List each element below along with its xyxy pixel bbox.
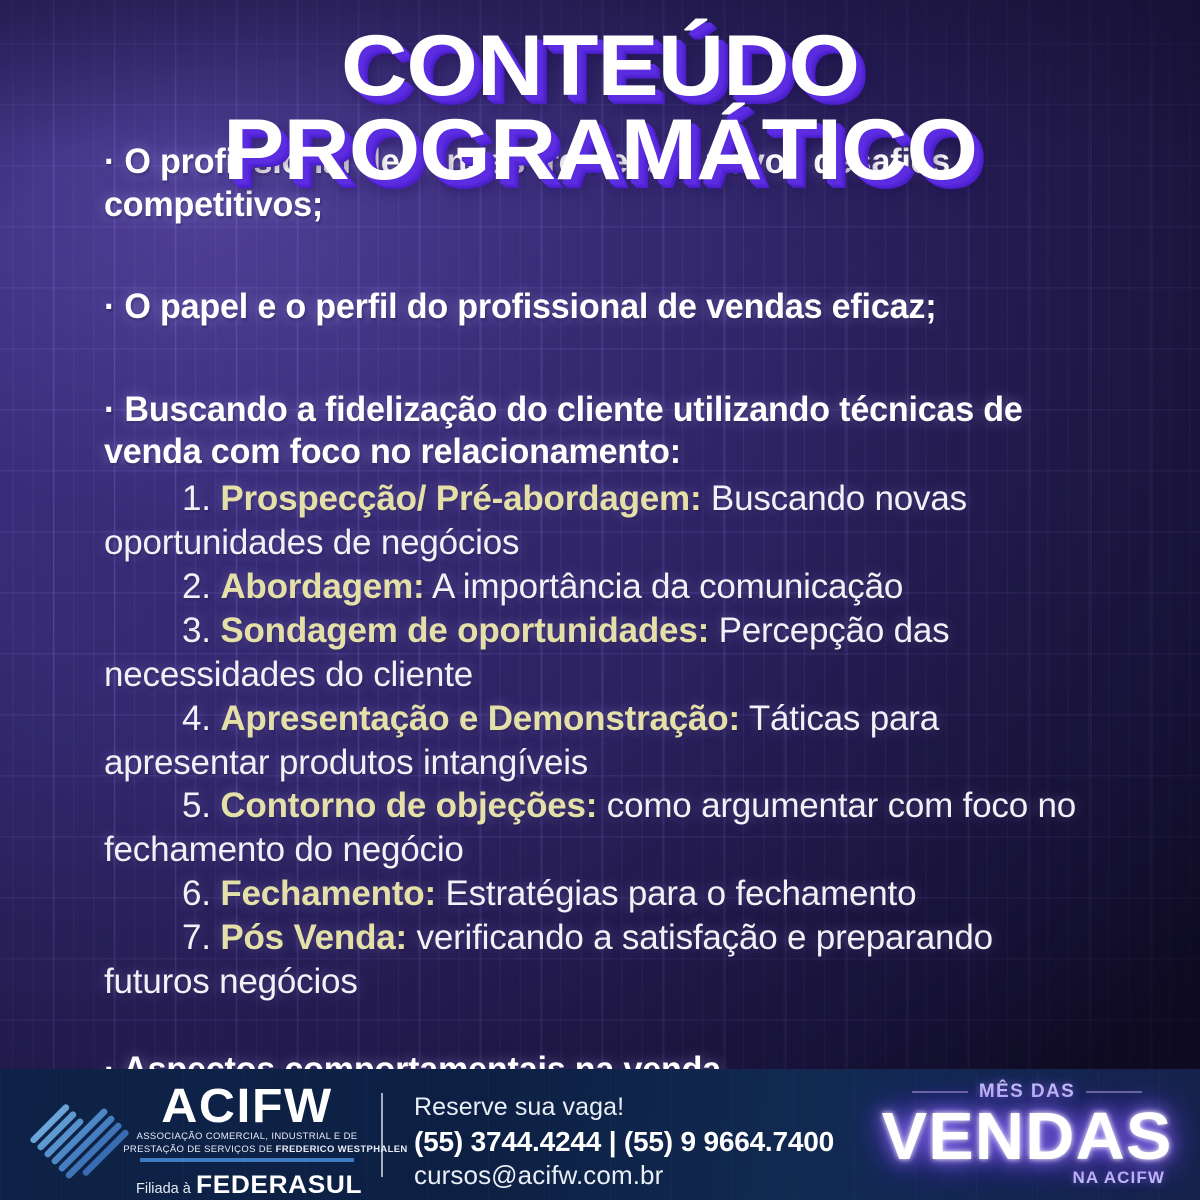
step-term: Contorno de objeções:: [220, 786, 597, 825]
acifw-city-name: FREDERICO WESTPHALEN: [276, 1144, 408, 1155]
step-number: 7.: [182, 918, 211, 957]
step-number: 2.: [182, 567, 211, 606]
federasul-wordmark: FEDERASUL: [196, 1171, 362, 1200]
step-desc: A importância da comunicação: [424, 567, 903, 606]
step-term: Sondagem de oportunidades:: [220, 611, 709, 650]
badge-rule-right: [1086, 1091, 1142, 1093]
step-term: Prospecção/ Pré-abordagem:: [220, 479, 701, 518]
footer-bar: ACIFW ASSOCIAÇÃO COMERCIAL, INDUSTRIAL E…: [0, 1069, 1200, 1200]
bullet-item-2: · O papel e o perfil do profissional de …: [104, 285, 1056, 328]
badge-rule-left: [912, 1091, 968, 1093]
federasul-affiliation: Filiada à FEDERASUL: [122, 1171, 372, 1200]
mes-das-vendas-badge: MÊS DAS VENDAS NA ACIFW: [882, 1081, 1172, 1188]
list-item: 2. Abordagem: A importância da comunicaç…: [104, 565, 1096, 609]
list-item: 7. Pós Venda: verificando a satisfação e…: [104, 916, 1096, 1004]
acifw-subtitle-line2: PRESTAÇÃO DE SERVIÇOS DE FREDERICO WESTP…: [123, 1144, 371, 1157]
acifw-logo-text: ACIFW ASSOCIAÇÃO COMERCIAL, INDUSTRIAL E…: [122, 1083, 372, 1200]
step-number: 1.: [182, 479, 211, 518]
spacer: [104, 354, 1096, 388]
bullet-item-3: · Buscando a fidelização do cliente util…: [104, 388, 1056, 473]
contact-cta: Reserve sua vaga!: [414, 1091, 834, 1124]
page-title: CONTEÚDO PROGRAMÁTICO: [0, 24, 1200, 193]
step-desc: Estratégias para o fechamento: [436, 874, 916, 913]
sales-steps-list: 1. Prospecção/ Pré-abordagem: Buscando n…: [104, 477, 1096, 1004]
affiliate-label: Filiada à: [136, 1181, 191, 1197]
acifw-underline-bar: [140, 1158, 354, 1162]
poster-canvas: CONTEÚDO PROGRAMÁTICO · O profissional d…: [0, 0, 1200, 1200]
step-number: 5.: [182, 786, 211, 825]
acifw-subtitle-line1: ASSOCIAÇÃO COMERCIAL, INDUSTRIAL E DE: [123, 1131, 371, 1144]
list-item: 4. Apresentação e Demonstração: Táticas …: [104, 697, 1096, 785]
spacer: [104, 251, 1096, 285]
list-item: 1. Prospecção/ Pré-abordagem: Buscando n…: [104, 477, 1096, 565]
acifw-wordmark: ACIFW: [117, 1083, 377, 1131]
list-item: 5. Contorno de objeções: como argumentar…: [104, 784, 1096, 872]
step-term: Apresentação e Demonstração:: [220, 699, 740, 738]
page-title-wrapper: CONTEÚDO PROGRAMÁTICO: [0, 24, 1200, 193]
step-number: 4.: [182, 699, 211, 738]
step-term: Abordagem:: [220, 567, 424, 606]
program-content: · O profissional de vendas frente aos no…: [0, 140, 1200, 1091]
step-number: 6.: [182, 874, 211, 913]
contact-email[interactable]: cursos@acifw.com.br: [414, 1159, 834, 1193]
list-item: 3. Sondagem de oportunidades: Percepção …: [104, 609, 1096, 697]
contact-phones[interactable]: (55) 3744.4244 | (55) 9 9664.7400: [414, 1124, 834, 1160]
step-term: Pós Venda:: [220, 918, 407, 957]
contact-block: Reserve sua vaga! (55) 3744.4244 | (55) …: [414, 1091, 834, 1193]
step-term: Fechamento:: [220, 874, 436, 913]
spacer: [104, 1004, 1096, 1048]
acifw-subtitle-prefix: PRESTAÇÃO DE SERVIÇOS DE: [123, 1144, 275, 1155]
step-number: 3.: [182, 611, 211, 650]
list-item: 6. Fechamento: Estratégias para o fecham…: [104, 872, 1096, 916]
badge-main-label: VENDAS: [879, 1104, 1175, 1169]
footer-divider: [381, 1093, 383, 1177]
